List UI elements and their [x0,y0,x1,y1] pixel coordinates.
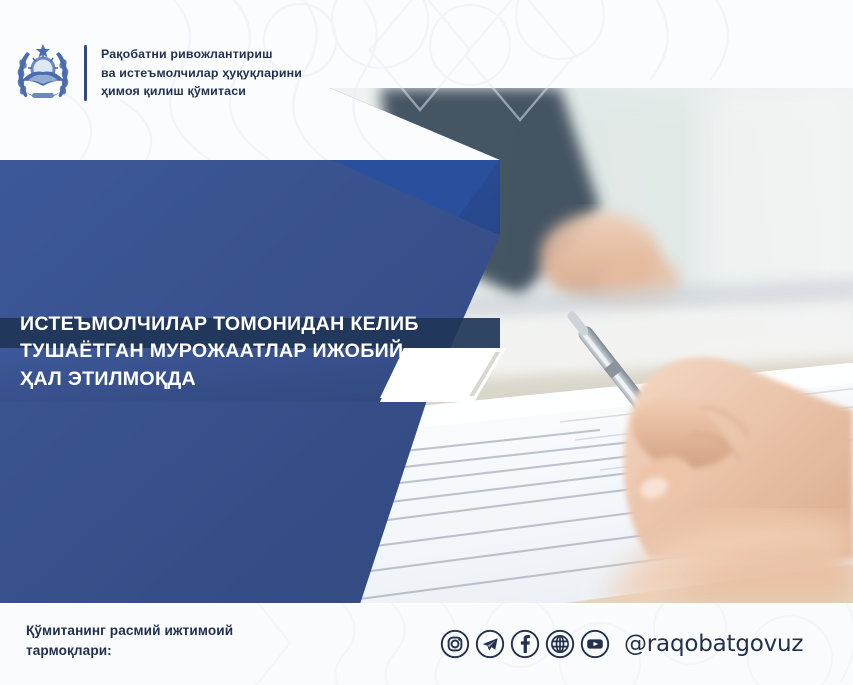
headline-line-3: ҲАЛ ЭТИЛМОҚДА [20,366,490,393]
social-handle[interactable]: @raqobatgovuz [624,631,803,657]
instagram-icon[interactable] [440,629,470,659]
uzbekistan-state-emblem-icon [14,42,72,104]
website-globe-icon[interactable] [545,629,575,659]
telegram-icon[interactable] [475,629,505,659]
facebook-icon[interactable] [510,629,540,659]
organization-name: Рақобатни ривожлантириш ва истеъмолчилар… [101,45,302,100]
headline-line-2: ТУШАЁТГАН МУРОЖААТЛАР ИЖОБИЙ [20,338,490,365]
logo-divider [84,45,87,101]
social-icons-row [440,629,610,659]
social-networks-label: Қўмитанинг расмий ижтимоий тармоқлари: [26,621,233,660]
footer-bar: Қўмитанинг расмий ижтимоий тармоқлари: [0,603,853,685]
logo-lockup: Рақобатни ривожлантириш ва истеъмолчилар… [14,42,302,104]
headline-line-1: ИСТЕЪМОЛЧИЛАР ТОМОНИДАН КЕЛИБ [20,311,490,338]
headline-block: ИСТЕЪМОЛЧИЛАР ТОМОНИДАН КЕЛИБ ТУШАЁТГАН … [20,311,490,393]
youtube-icon[interactable] [580,629,610,659]
poster-root: Рақобатни ривожлантириш ва истеъмолчилар… [0,0,853,685]
